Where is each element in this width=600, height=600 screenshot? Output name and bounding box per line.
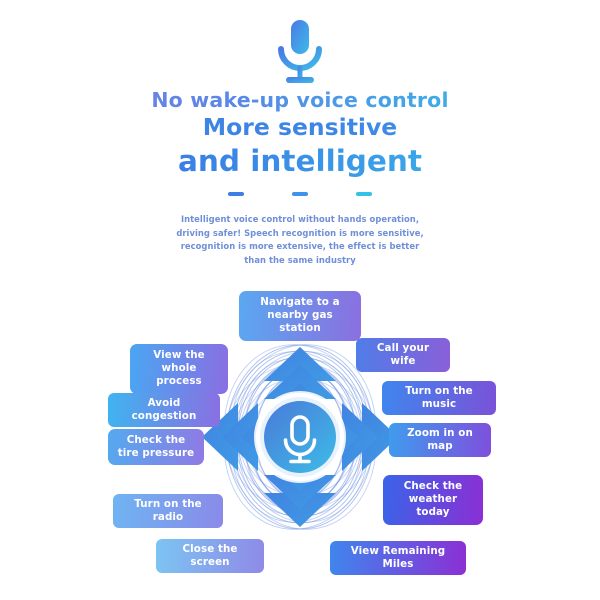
headline-line-3: and intelligent — [0, 144, 600, 180]
command-pill-zoom-in-on-map[interactable]: Zoom in on map — [389, 423, 491, 457]
command-pill-check-tire-pressure[interactable]: Check the tire pressure — [108, 429, 204, 465]
command-pill-avoid-congestion[interactable]: Avoid congestion — [108, 393, 220, 427]
command-pill-view-remaining-miles[interactable]: View Remaining Miles — [330, 541, 466, 575]
infographic-canvas: No wake-up voice control More sensitive … — [0, 0, 600, 600]
divider-dash-2 — [292, 192, 308, 196]
command-pill-turn-on-the-radio[interactable]: Turn on the radio — [113, 494, 223, 528]
command-pill-call-your-wife[interactable]: Call your wife — [356, 338, 450, 372]
command-pill-view-whole-process[interactable]: View the whole process — [130, 344, 228, 394]
divider-dash-1 — [228, 192, 244, 196]
hero-microphone-icon — [0, 16, 600, 88]
headline-line-1: No wake-up voice control — [0, 88, 600, 112]
divider-dash-3 — [356, 192, 372, 196]
command-pill-turn-on-the-music[interactable]: Turn on the music — [382, 381, 496, 415]
divider-dashes — [0, 192, 600, 196]
headline-line-2: More sensitive — [0, 113, 600, 142]
header-block: No wake-up voice control More sensitive … — [0, 88, 600, 180]
command-pill-close-the-screen[interactable]: Close the screen — [156, 539, 264, 573]
command-pill-navigate-gas-station[interactable]: Navigate to a nearby gas station — [239, 291, 361, 341]
command-pill-check-weather-today[interactable]: Check the weather today — [383, 475, 483, 525]
subtitle-paragraph: Intelligent voice control without hands … — [175, 213, 425, 267]
